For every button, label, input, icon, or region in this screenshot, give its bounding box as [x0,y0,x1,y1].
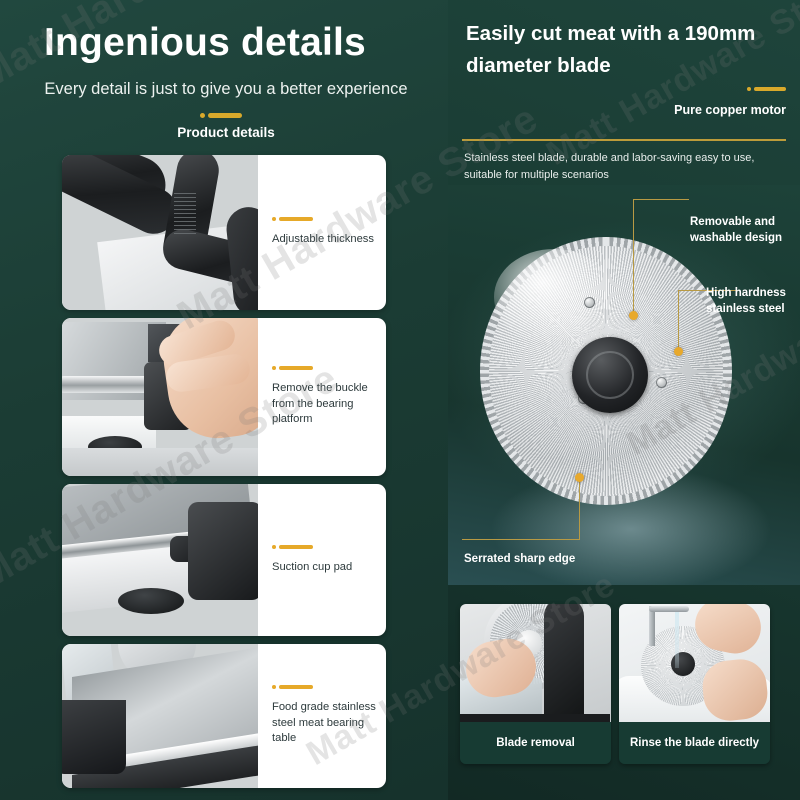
detail-card-remove-buckle[interactable]: Remove the buckle from the bearing platf… [62,318,386,476]
card-accent-tick-icon [279,545,313,549]
callout-label-high-hardness: High hardness stainless steel [706,286,798,317]
usage-photo-image [460,604,611,722]
page-subtitle: Every detail is just to give you a bette… [14,80,438,99]
blade-center-hub [572,337,648,413]
page-title: Ingenious details [44,22,366,65]
card-accent-tick-icon [279,217,313,221]
right-title: Easily cut meat with a 190mm diameter bl… [466,18,786,82]
accent-dot-icon [200,113,205,118]
usage-photo-rinse-blade[interactable]: Rinse the blade directly [619,604,770,764]
usage-photo-caption: Blade removal [460,722,611,764]
callout-dot-removable [629,311,638,320]
detail-photo-adjustable-thickness [62,155,258,310]
card-accent-tick-icon [279,685,313,689]
callout-leader-line [462,539,580,540]
left-panel: Ingenious details Every detail is just t… [0,0,448,800]
detail-card-caption: Remove the buckle from the bearing platf… [272,381,376,429]
badge-accent-bar-icon [754,87,786,91]
usage-photos: Blade removal Rinse the blade directly [460,604,770,764]
callout-leader-line [633,199,634,315]
gold-divider [462,139,786,141]
right-subtitle: Stainless steel blade, durable and labor… [464,150,784,183]
detail-card-suction-cup-pad[interactable]: Suction cup pad [62,484,386,636]
badge-label: Pure copper motor [666,102,786,119]
callout-leader-line [678,290,679,352]
callout-dot-serrated-edge [575,473,584,482]
accent-bar-icon [208,113,242,118]
detail-photo-meat-bearing-table [62,644,258,788]
detail-card-caption: Food grade stainless steel meat bearing … [272,700,376,748]
callout-dot-high-hardness [674,347,683,356]
blade-screw-icon [584,297,595,308]
detail-card-meat-bearing-table[interactable]: Food grade stainless steel meat bearing … [62,644,386,788]
product-infographic: Ingenious details Every detail is just t… [0,0,800,800]
detail-card-caption: Suction cup pad [272,560,376,576]
blade-image [480,237,732,505]
callout-label-removable-washable: Removable and washable design [690,215,796,246]
usage-photo-blade-removal[interactable]: Blade removal [460,604,611,764]
detail-card-adjustable-thickness[interactable]: Adjustable thickness [62,155,386,310]
detail-photo-suction-cup-pad [62,484,258,636]
blade-highlight [494,249,614,345]
card-accent-tick-icon [279,366,313,370]
section-label-product-details: Product details [14,125,438,140]
detail-photo-remove-buckle [62,318,258,476]
usage-photo-image [619,604,770,722]
callout-leader-line [633,199,689,200]
pure-copper-motor-badge: Pure copper motor [666,84,786,119]
usage-photo-caption: Rinse the blade directly [619,722,770,764]
callout-label-serrated-edge: Serrated sharp edge [464,552,594,568]
callout-leader-line [579,479,580,539]
blade-screw-icon [656,377,667,388]
detail-card-caption: Adjustable thickness [272,232,376,248]
